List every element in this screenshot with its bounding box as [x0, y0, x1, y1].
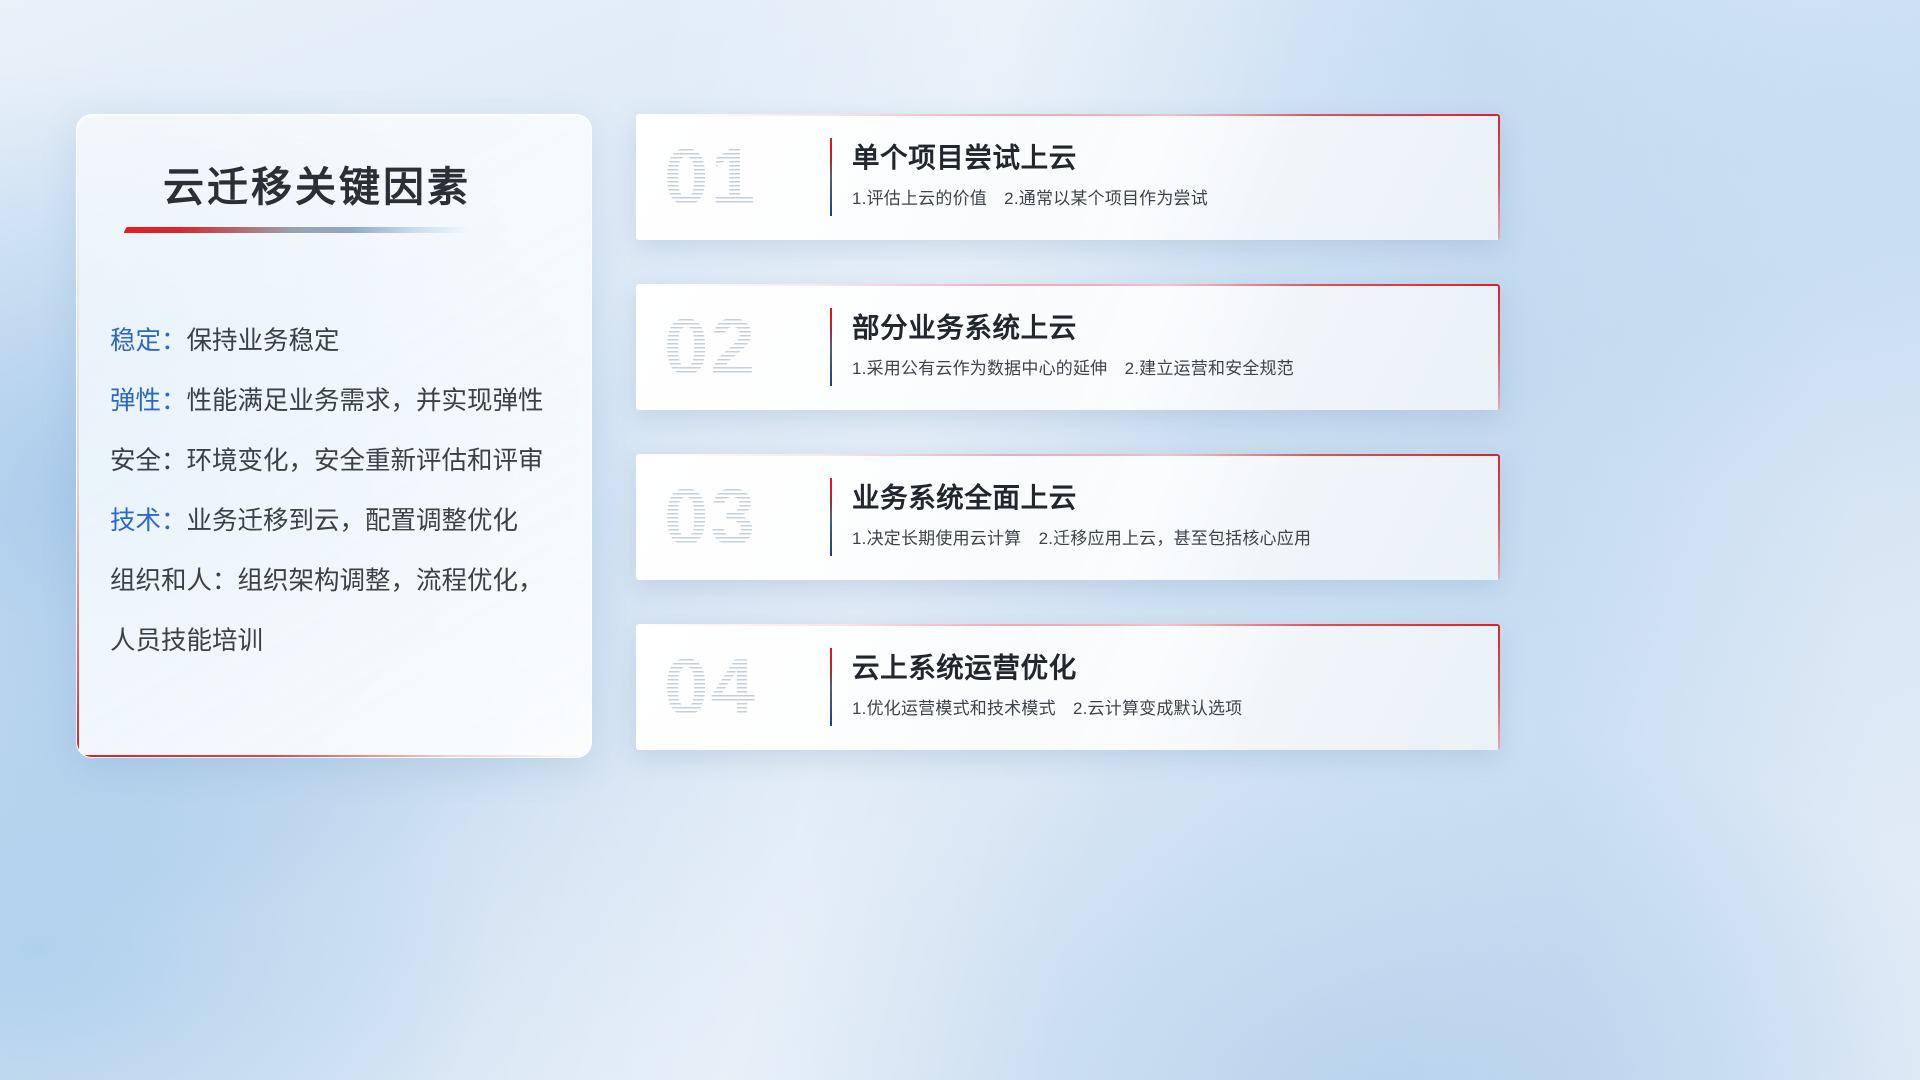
factor-key: 安全：: [110, 447, 187, 475]
migration-stage-cards: 01 单个项目尝试上云 1.评估上云的价值 2.通常以某个项目作为尝试 02 部…: [636, 114, 1500, 794]
stage-number-watermark: 02: [664, 307, 757, 387]
factor-value: 人员技能培训: [110, 627, 263, 655]
list-item: 弹性：性能满足业务需求，并实现弹性: [110, 371, 571, 431]
stage-card[interactable]: 04 云上系统运营优化 1.优化运营模式和技术模式 2.云计算变成默认选项: [636, 624, 1500, 750]
factor-value: 组织架构调整，流程优化，: [238, 567, 544, 595]
factor-list: 稳定：保持业务稳定 弹性：性能满足业务需求，并实现弹性 安全：环境变化，安全重新…: [110, 311, 571, 671]
card-description: 1.优化运营模式和技术模式 2.云计算变成默认选项: [852, 697, 1482, 721]
stage-number-watermark: 04: [664, 647, 757, 727]
card-title: 部分业务系统上云: [852, 309, 1482, 347]
list-item: 技术：业务迁移到云，配置调整优化: [110, 491, 571, 551]
card-divider-bar: [830, 478, 832, 556]
factor-key: 稳定：: [110, 327, 187, 355]
card-body: 业务系统全面上云 1.决定长期使用云计算 2.迁移应用上云，甚至包括核心应用: [852, 479, 1482, 551]
list-item: 人员技能培训: [110, 611, 571, 671]
factor-key: 组织和人：: [110, 567, 238, 595]
key-factors-panel: 云迁移关键因素 稳定：保持业务稳定 弹性：性能满足业务需求，并实现弹性 安全：环…: [76, 114, 592, 758]
factor-value: 性能满足业务需求，并实现弹性: [187, 387, 544, 415]
factor-key: 弹性：: [110, 387, 187, 415]
list-item: 稳定：保持业务稳定: [110, 311, 571, 371]
page-title: 云迁移关键因素: [163, 153, 471, 213]
stage-card[interactable]: 02 部分业务系统上云 1.采用公有云作为数据中心的延伸 2.建立运营和安全规范: [636, 284, 1500, 410]
stage-card[interactable]: 01 单个项目尝试上云 1.评估上云的价值 2.通常以某个项目作为尝试: [636, 114, 1500, 240]
card-title: 单个项目尝试上云: [852, 139, 1482, 177]
card-description: 1.评估上云的价值 2.通常以某个项目作为尝试: [852, 187, 1482, 211]
card-divider-bar: [830, 308, 832, 386]
factor-key: 技术：: [110, 507, 187, 535]
card-body: 单个项目尝试上云 1.评估上云的价值 2.通常以某个项目作为尝试: [852, 139, 1482, 211]
card-divider-bar: [830, 138, 832, 216]
factor-value: 环境变化，安全重新评估和评审: [187, 447, 544, 475]
card-body: 云上系统运营优化 1.优化运营模式和技术模式 2.云计算变成默认选项: [852, 649, 1482, 721]
stage-number-watermark: 01: [664, 137, 757, 217]
card-description: 1.决定长期使用云计算 2.迁移应用上云，甚至包括核心应用: [852, 527, 1482, 551]
card-divider-bar: [830, 648, 832, 726]
stage-number-watermark: 03: [664, 477, 757, 557]
card-title: 云上系统运营优化: [852, 649, 1482, 687]
factor-value: 保持业务稳定: [187, 327, 340, 355]
list-item: 组织和人：组织架构调整，流程优化，: [110, 551, 571, 611]
card-description: 1.采用公有云作为数据中心的延伸 2.建立运营和安全规范: [852, 357, 1482, 381]
card-body: 部分业务系统上云 1.采用公有云作为数据中心的延伸 2.建立运营和安全规范: [852, 309, 1482, 381]
card-title: 业务系统全面上云: [852, 479, 1482, 517]
title-underline-rule: [124, 227, 471, 233]
factor-value: 业务迁移到云，配置调整优化: [187, 507, 519, 535]
list-item: 安全：环境变化，安全重新评估和评审: [110, 431, 571, 491]
stage-card[interactable]: 03 业务系统全面上云 1.决定长期使用云计算 2.迁移应用上云，甚至包括核心应…: [636, 454, 1500, 580]
